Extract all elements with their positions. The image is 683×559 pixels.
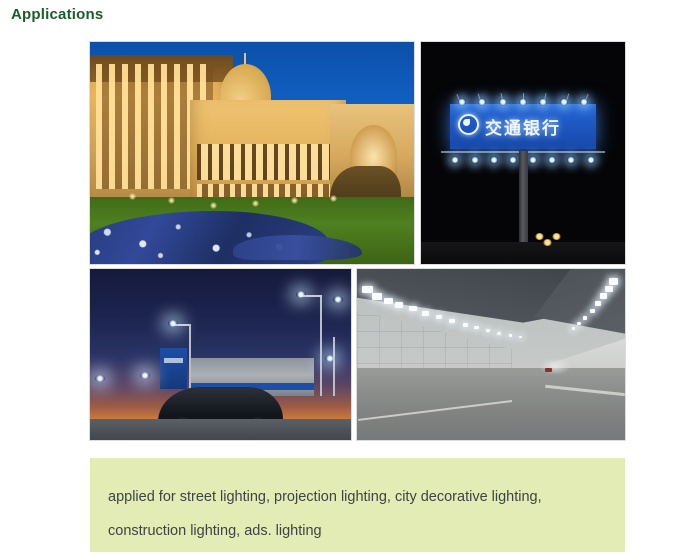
light-pole — [189, 324, 191, 396]
tunnel-led-luminaire — [463, 323, 468, 327]
dealership-sign-tower — [160, 348, 186, 389]
photo-billboard-night-lighting[interactable]: 交通银行 — [420, 41, 626, 265]
tunnel-led-luminaire — [572, 327, 575, 330]
roadside-ground — [421, 242, 625, 264]
car-headlight — [552, 233, 561, 240]
applications-caption-box: applied for street lighting, projection … — [90, 458, 625, 552]
tunnel-led-luminaire — [583, 316, 587, 320]
billboard-support-pole — [519, 151, 528, 249]
tunnel-led-luminaire — [409, 306, 417, 311]
facade-uplight — [129, 193, 136, 200]
led-street-light — [325, 355, 335, 362]
photo-parking-lot-street-lighting[interactable] — [89, 268, 352, 441]
facade-uplight — [210, 202, 217, 209]
tunnel-scene — [357, 269, 625, 440]
floodlight-lamp — [451, 156, 459, 164]
tunnel-led-luminaire — [436, 315, 442, 319]
tunnel-led-light-row-right — [555, 272, 619, 347]
facade-uplight — [252, 200, 259, 207]
tunnel-led-luminaire — [519, 336, 522, 338]
tunnel-led-luminaire — [395, 302, 403, 308]
floodlight-lamp — [519, 98, 527, 106]
tunnel-led-luminaire — [486, 329, 490, 332]
floodlight-lamp — [471, 156, 479, 164]
tunnel-led-luminaire — [605, 286, 613, 292]
tunnel-led-luminaire — [449, 319, 455, 323]
photo-tunnel-lighting[interactable] — [356, 268, 626, 441]
tunnel-led-luminaire — [509, 334, 512, 337]
light-pole — [320, 296, 322, 395]
tunnel-led-luminaire — [577, 322, 581, 325]
led-street-light — [140, 372, 150, 379]
palace-window-row-upper — [197, 144, 340, 180]
floodlight-lamp — [490, 156, 498, 164]
billboard-scene: 交通银行 — [421, 42, 625, 264]
floodlight-lamp — [499, 98, 507, 106]
billboard-top-floodlights — [452, 96, 595, 107]
floodlight-lamp — [567, 156, 575, 164]
car-headlight — [535, 233, 544, 240]
floodlight-lamp — [548, 156, 556, 164]
billboard-panel: 交通银行 — [450, 104, 597, 148]
dealership-lot-scene — [90, 269, 351, 440]
applications-photo-grid: 交通银行 — [89, 41, 626, 441]
floodlight-lamp — [587, 156, 595, 164]
floodlight-lamp — [509, 156, 517, 164]
distant-vehicle — [545, 368, 552, 372]
tunnel-led-luminaire — [422, 311, 429, 316]
floodlight-lamp — [539, 98, 547, 106]
floodlight-lamp — [458, 98, 466, 106]
tunnel-led-luminaire — [497, 332, 501, 335]
tunnel-led-luminaire — [609, 278, 618, 285]
tunnel-led-luminaire — [474, 326, 479, 329]
tunnel-led-light-row-left — [362, 278, 555, 350]
tunnel-led-luminaire — [595, 301, 601, 306]
page-title: Applications — [11, 5, 103, 25]
floodlight-lamp — [560, 98, 568, 106]
tunnel-led-luminaire — [600, 293, 607, 299]
floodlight-lamp — [478, 98, 486, 106]
tunnel-led-luminaire — [590, 309, 595, 313]
tunnel-led-luminaire — [372, 293, 382, 300]
floodlight-lamp — [529, 156, 537, 164]
facade-uplight — [330, 195, 337, 202]
tunnel-led-luminaire — [384, 298, 393, 304]
floodlight-lamp — [580, 98, 588, 106]
applications-caption-text: applied for street lighting, projection … — [108, 480, 607, 548]
billboard-sign-text: 交通银行 — [450, 104, 597, 148]
tunnel-vanishing-glow — [539, 358, 571, 375]
palace-scene — [90, 42, 414, 264]
lot-pavement — [90, 419, 351, 440]
photo-palace-night-lighting[interactable] — [89, 41, 415, 265]
